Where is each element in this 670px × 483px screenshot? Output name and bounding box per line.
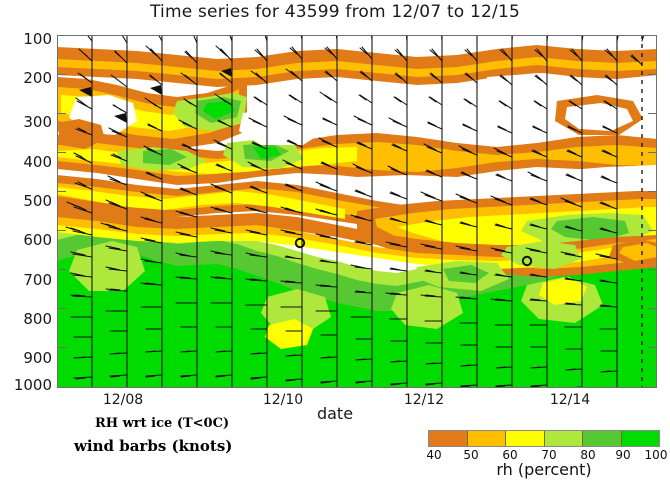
colorbar-band-90-100	[622, 431, 660, 446]
colorbar-title: rh (percent)	[428, 460, 660, 479]
colorbar-band-80-90	[583, 431, 622, 446]
y-tick-right	[648, 269, 657, 270]
y-tick-label: 400	[4, 153, 52, 171]
y-tick-right	[648, 152, 657, 153]
y-tick-label: 1000	[4, 376, 52, 394]
contour-plot-area	[57, 35, 657, 388]
y-tick	[57, 152, 66, 153]
y-tick-right	[648, 74, 657, 75]
y-tick-label: 300	[4, 113, 52, 131]
colorbar	[428, 430, 660, 447]
y-tick	[57, 113, 66, 114]
y-tick-label: 100	[4, 30, 52, 48]
y-tick	[57, 191, 66, 192]
colorbar-band-40-50	[429, 431, 468, 446]
rh-note: RH wrt ice (T<0C)	[95, 416, 229, 431]
y-tick	[57, 308, 66, 309]
wind-barb-note: wind barbs (knots)	[74, 437, 232, 455]
y-tick	[57, 74, 66, 75]
y-tick-label: 200	[4, 69, 52, 87]
colorbar-band-50-60	[468, 431, 507, 446]
y-tick	[57, 230, 66, 231]
y-tick-right	[648, 308, 657, 309]
y-tick-right	[648, 347, 657, 348]
y-tick-right	[648, 230, 657, 231]
y-tick	[57, 347, 66, 348]
y-tick-label: 900	[4, 349, 52, 367]
rh-contour-field	[57, 35, 657, 388]
y-tick-right	[648, 113, 657, 114]
y-tick-label: 700	[4, 271, 52, 289]
y-tick-label: 800	[4, 310, 52, 328]
y-tick-label: 500	[4, 192, 52, 210]
y-tick-label: 600	[4, 231, 52, 249]
page-title: Time series for 43599 from 12/07 to 12/1…	[0, 2, 670, 22]
colorbar-band-70-80	[545, 431, 584, 446]
y-tick-right	[648, 191, 657, 192]
y-tick	[57, 269, 66, 270]
colorbar-band-60-70	[506, 431, 545, 446]
